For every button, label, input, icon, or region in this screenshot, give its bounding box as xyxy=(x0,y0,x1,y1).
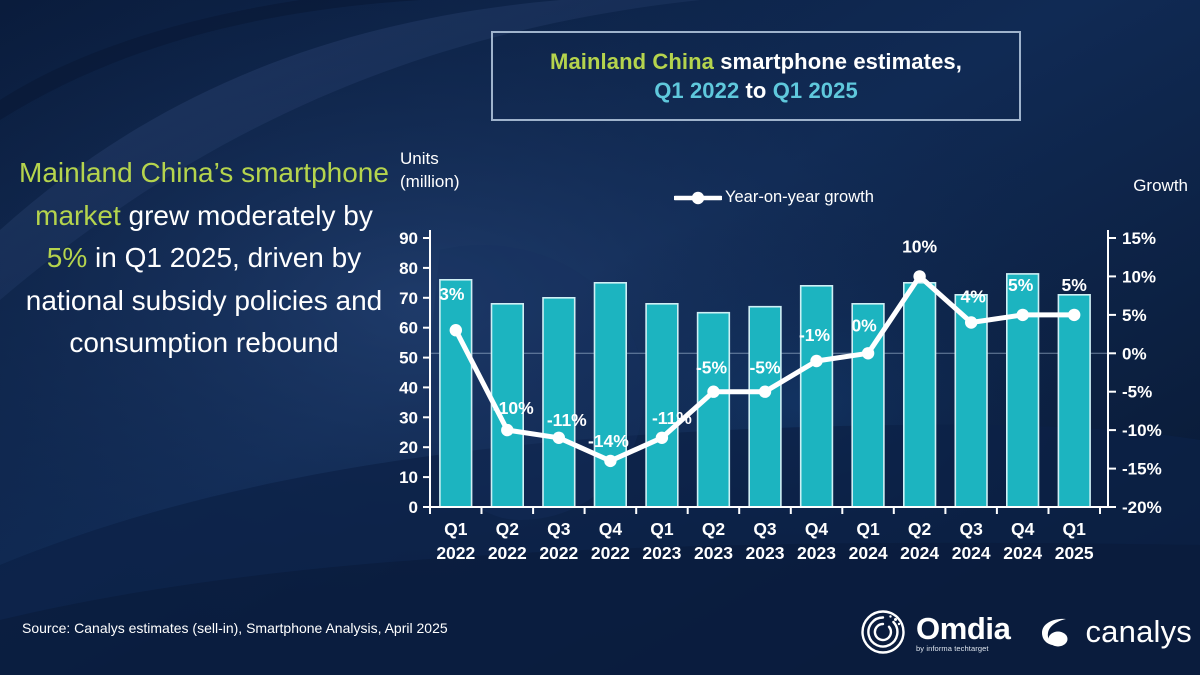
bar-q1-2025 xyxy=(1058,295,1090,507)
y-right-tick: -20% xyxy=(1122,498,1162,517)
bar-q3-2023 xyxy=(749,307,781,507)
x-tick-quarter: Q4 xyxy=(599,519,623,539)
title-period-start: Q1 2022 xyxy=(654,78,739,103)
growth-point xyxy=(1017,309,1029,321)
x-tick-year: 2022 xyxy=(539,543,578,563)
bar-q3-2022 xyxy=(543,298,575,507)
x-tick-quarter: Q3 xyxy=(547,519,571,539)
y-right-tick: 0% xyxy=(1122,344,1147,363)
bar-q2-2023 xyxy=(698,313,730,507)
x-tick-quarter: Q3 xyxy=(753,519,777,539)
growth-data-label: 4% xyxy=(961,287,987,307)
canalys-logo: canalys xyxy=(1032,610,1192,654)
x-tick-quarter: Q4 xyxy=(1011,519,1035,539)
x-tick-quarter: Q2 xyxy=(496,519,520,539)
legend-label: Year-on-year growth xyxy=(725,188,874,207)
bar-q1-2022 xyxy=(440,280,472,507)
growth-data-label: -11% xyxy=(652,408,692,428)
growth-point xyxy=(501,424,513,436)
title-subject: smartphone estimates, xyxy=(714,49,962,74)
growth-point xyxy=(759,386,771,398)
y-left-tick: 0 xyxy=(409,498,418,517)
x-tick-year: 2024 xyxy=(849,543,888,563)
y-right-tick: -5% xyxy=(1122,383,1152,402)
omdia-wordmark: Omdia xyxy=(916,611,1010,647)
omdia-mark-icon xyxy=(859,608,907,656)
headline-white-1: grew moderately by xyxy=(121,200,373,231)
growth-point xyxy=(965,316,977,328)
y-left-tick: 40 xyxy=(399,378,418,397)
y-left-tick: 20 xyxy=(399,438,418,457)
y-left-tick: 70 xyxy=(399,289,418,308)
growth-data-label: 0% xyxy=(851,315,877,335)
x-tick-quarter: Q1 xyxy=(650,519,674,539)
chart-title: Mainland China smartphone estimates, Q1 … xyxy=(550,47,962,105)
growth-data-label: -1% xyxy=(799,325,831,345)
x-tick-year: 2024 xyxy=(952,543,991,563)
growth-point xyxy=(450,324,462,336)
growth-data-label: -11% xyxy=(547,410,587,430)
x-tick-year: 2022 xyxy=(591,543,630,563)
bar-q1-2023 xyxy=(646,304,678,507)
growth-data-label: -5% xyxy=(696,358,728,378)
y-left-tick: 50 xyxy=(399,349,418,368)
growth-data-label: 3% xyxy=(439,284,465,304)
x-tick-quarter: Q4 xyxy=(805,519,829,539)
x-tick-year: 2023 xyxy=(797,543,836,563)
x-tick-quarter: Q1 xyxy=(444,519,468,539)
y-right-tick: 5% xyxy=(1122,306,1147,325)
x-tick-year: 2022 xyxy=(488,543,527,563)
legend-line-marker-icon xyxy=(674,189,722,207)
y-right-tick: -15% xyxy=(1122,460,1162,479)
y-left-tick: 60 xyxy=(399,319,418,338)
growth-point xyxy=(604,455,616,467)
title-region: Mainland China xyxy=(550,49,714,74)
bar-q4-2023 xyxy=(801,286,833,507)
x-tick-quarter: Q3 xyxy=(960,519,984,539)
headline-green-2: 5% xyxy=(47,242,87,273)
growth-point xyxy=(810,355,822,367)
y-left-tick: 30 xyxy=(399,408,418,427)
y-left-tick: 80 xyxy=(399,259,418,278)
headline: Mainland China’s smartphone market grew … xyxy=(18,152,390,365)
x-tick-year: 2023 xyxy=(642,543,681,563)
growth-point xyxy=(913,270,925,282)
omdia-tagline: by informa techtarget xyxy=(916,644,1010,653)
x-tick-year: 2024 xyxy=(1003,543,1042,563)
chart-area: Units(million) Growth Year-on-year growt… xyxy=(392,140,1192,590)
x-tick-year: 2025 xyxy=(1055,543,1094,563)
growth-data-label: -14% xyxy=(588,431,629,451)
x-tick-quarter: Q1 xyxy=(856,519,880,539)
chart-plot: 0102030405060708090-20%-15%-10%-5%0%5%10… xyxy=(392,140,1192,590)
omdia-logo: Omdia by informa techtarget xyxy=(859,608,1010,656)
x-tick-quarter: Q2 xyxy=(908,519,932,539)
x-tick-year: 2022 xyxy=(436,543,475,563)
title-period-end: Q1 2025 xyxy=(773,78,858,103)
growth-point xyxy=(707,386,719,398)
growth-data-label: 5% xyxy=(1008,275,1034,295)
x-tick-year: 2024 xyxy=(900,543,939,563)
growth-point xyxy=(1068,309,1080,321)
x-tick-quarter: Q1 xyxy=(1063,519,1087,539)
growth-data-label: -10% xyxy=(493,398,534,418)
canalys-wordmark: canalys xyxy=(1085,614,1192,650)
y-right-tick: -10% xyxy=(1122,421,1162,440)
chart-legend: Year-on-year growth xyxy=(674,188,874,207)
bar-q4-2022 xyxy=(595,283,627,507)
growth-point xyxy=(656,432,668,444)
canalys-mark-icon xyxy=(1032,610,1076,654)
y-left-tick: 10 xyxy=(399,468,418,487)
growth-point xyxy=(862,347,874,359)
x-tick-year: 2023 xyxy=(694,543,733,563)
title-period-sep: to xyxy=(739,78,772,103)
y-right-tick: 10% xyxy=(1122,267,1156,286)
growth-point xyxy=(553,432,565,444)
growth-data-label: -5% xyxy=(749,358,781,378)
growth-data-label: 10% xyxy=(902,236,937,256)
x-tick-quarter: Q2 xyxy=(702,519,726,539)
logo-group: Omdia by informa techtarget canalys xyxy=(859,603,1192,661)
y-right-tick: 15% xyxy=(1122,229,1156,248)
bar-q2-2024 xyxy=(904,283,936,507)
source-note: Source: Canalys estimates (sell-in), Sma… xyxy=(22,620,448,636)
x-tick-year: 2023 xyxy=(746,543,785,563)
growth-data-label: 5% xyxy=(1062,275,1088,295)
y-left-tick: 90 xyxy=(399,229,418,248)
chart-title-box: Mainland China smartphone estimates, Q1 … xyxy=(491,31,1021,121)
